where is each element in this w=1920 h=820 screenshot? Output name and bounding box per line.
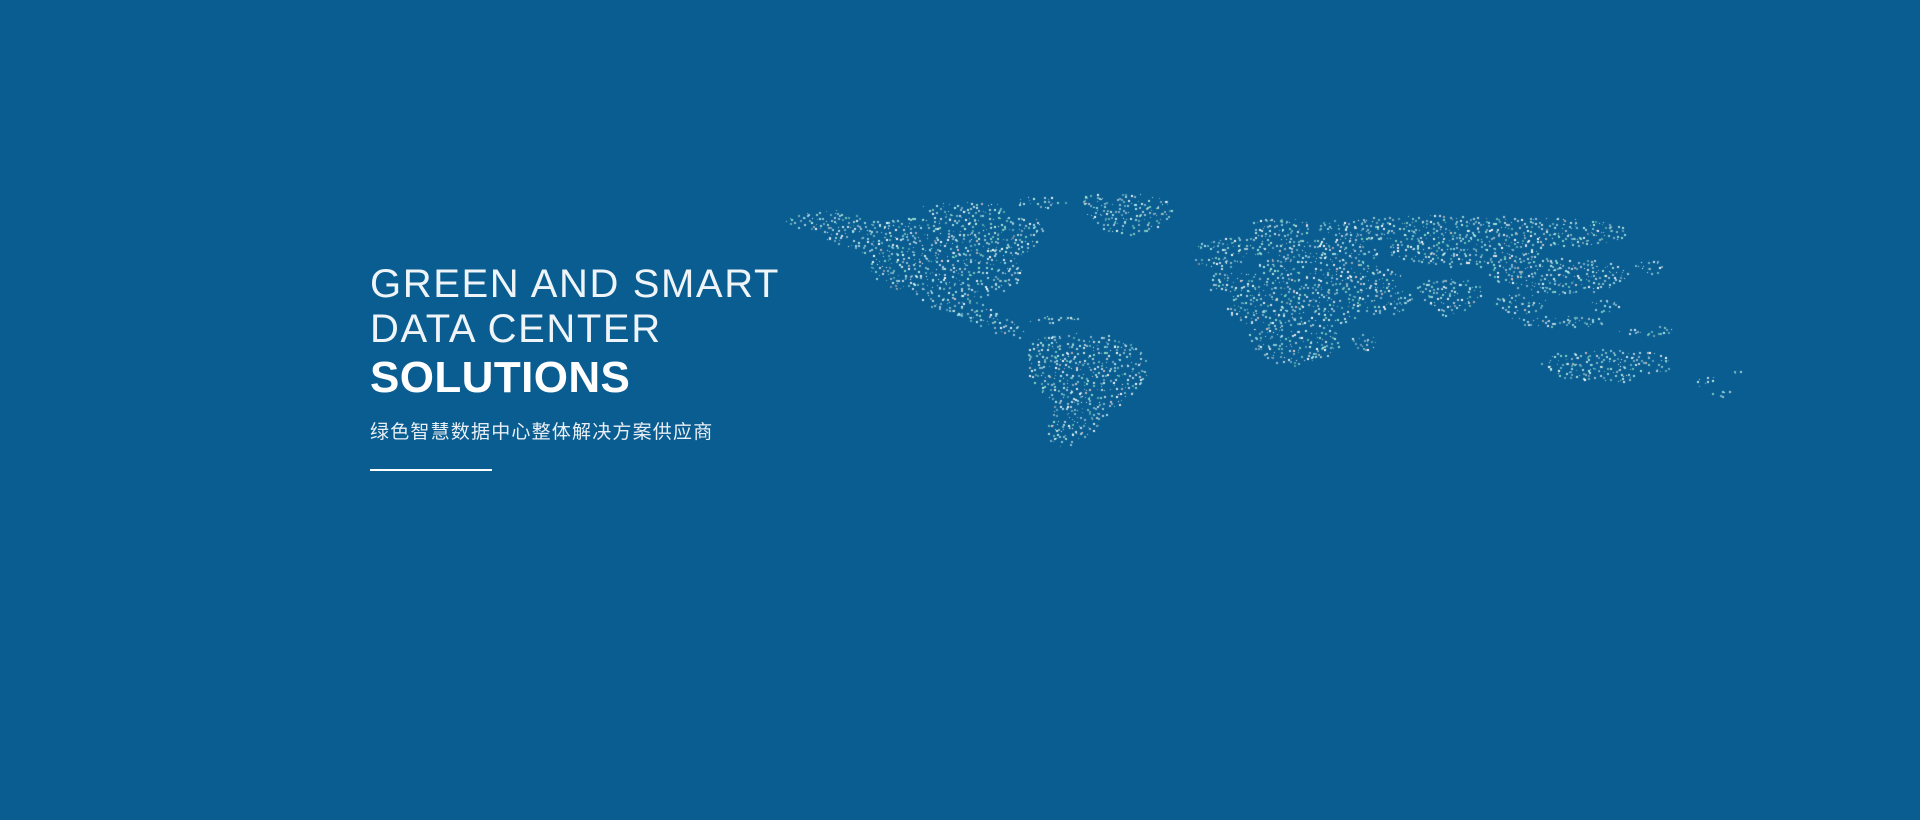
hero-banner: GREEN AND SMART DATA CENTER SOLUTIONS 绿色… bbox=[0, 0, 1920, 820]
hero-text-block: GREEN AND SMART DATA CENTER SOLUTIONS 绿色… bbox=[370, 262, 1130, 471]
headline-line-1: GREEN AND SMART bbox=[370, 262, 1130, 307]
hero-subtitle: 绿色智慧数据中心整体解决方案供应商 bbox=[370, 417, 1130, 444]
headline-line-2: DATA CENTER bbox=[370, 307, 1130, 352]
headline-line-3: SOLUTIONS bbox=[370, 353, 1130, 403]
accent-rule bbox=[370, 469, 492, 471]
